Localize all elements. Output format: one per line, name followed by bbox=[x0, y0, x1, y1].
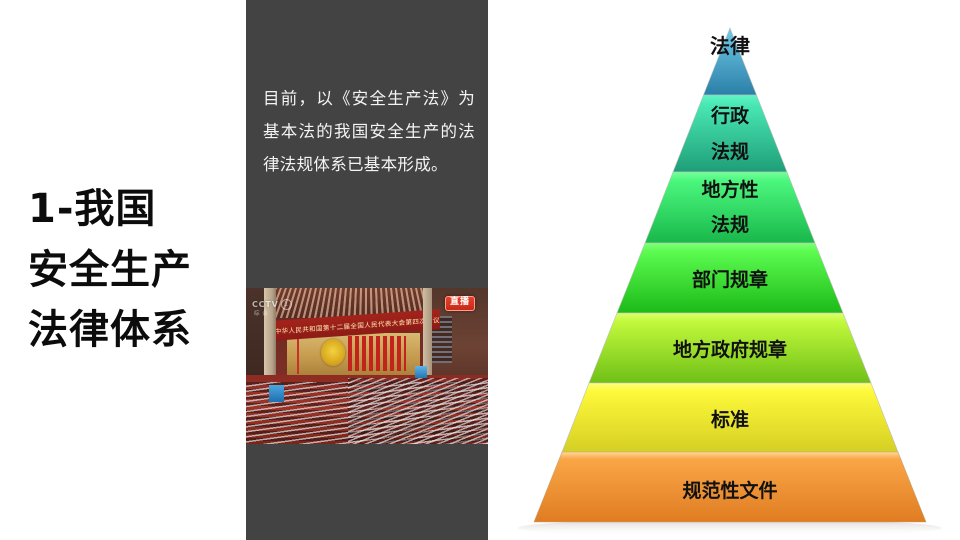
live-broadcast-badge: 直播 bbox=[445, 296, 475, 311]
pyramid-tier-2-label-line-1: 行政 bbox=[710, 104, 750, 127]
slide-title-block: 1-我国 安全生产 法律体系 bbox=[0, 0, 246, 540]
pyramid-tier-6: 标准 bbox=[562, 383, 898, 452]
content-panel: 目前，以《安全生产法》为基本法的我国安全生产的法律法规体系已基本形成。 bbox=[246, 0, 488, 540]
photo-red-flags bbox=[348, 336, 406, 370]
cctv-logo-text: CCTV bbox=[252, 300, 279, 309]
pyramid-tier-3-label-line-2: 法规 bbox=[711, 213, 749, 236]
photo-display-screen-right bbox=[415, 366, 427, 378]
pyramid-tier-1-label: 法律 bbox=[710, 34, 750, 58]
pyramid-tier-3-label-line-1: 地方性 bbox=[701, 178, 758, 201]
pyramid-tier-5: 地方政府规章 bbox=[589, 313, 871, 383]
page-title-line-1: 1-我国 bbox=[28, 179, 156, 240]
cctv-channel-number: 1 bbox=[281, 299, 292, 310]
panel-body-text: 目前，以《安全生产法》为基本法的我国安全生产的法律法规体系已基本形成。 bbox=[263, 82, 475, 181]
pyramid-tier-4-label: 部门规章 bbox=[692, 268, 768, 291]
pyramid-tier-7-label: 规范性文件 bbox=[682, 479, 777, 502]
photo-national-emblem bbox=[321, 339, 345, 366]
congress-hall-photo: 中华人民共和国第十二届全国人民代表大会第四次会议 CCTV 1 综 合 直播 bbox=[246, 288, 488, 444]
photo-seating-rows-right bbox=[348, 378, 488, 444]
pyramid-tier-2: 行政 法规 bbox=[673, 95, 787, 172]
page-title-line-3: 法律体系 bbox=[28, 300, 192, 361]
pyramid-tier-7: 规范性文件 bbox=[534, 452, 926, 522]
photo-display-screen-left bbox=[269, 385, 284, 402]
photo-flag-pole bbox=[297, 335, 299, 374]
law-hierarchy-pyramid: 法律 行政 法规 地方性 法规 部门规章 地方政府规章 标准 bbox=[488, 0, 960, 540]
cctv-channel-subtitle: 综 合 bbox=[254, 309, 268, 317]
pyramid-tier-5-label: 地方政府规章 bbox=[673, 338, 787, 361]
pyramid-tier-6-label: 标准 bbox=[711, 409, 749, 431]
pyramid-tier-1: 法律 bbox=[704, 28, 757, 95]
pyramid-tier-3: 地方性 法规 bbox=[645, 172, 815, 243]
pyramid-tier-2-label-line-2: 法规 bbox=[711, 140, 749, 163]
pyramid-svg: 法律 行政 法规 地方性 法规 部门规章 地方政府规章 标准 bbox=[488, 0, 960, 540]
pyramid-tier-4: 部门规章 bbox=[617, 243, 843, 313]
page-title-line-2: 安全生产 bbox=[28, 240, 192, 301]
